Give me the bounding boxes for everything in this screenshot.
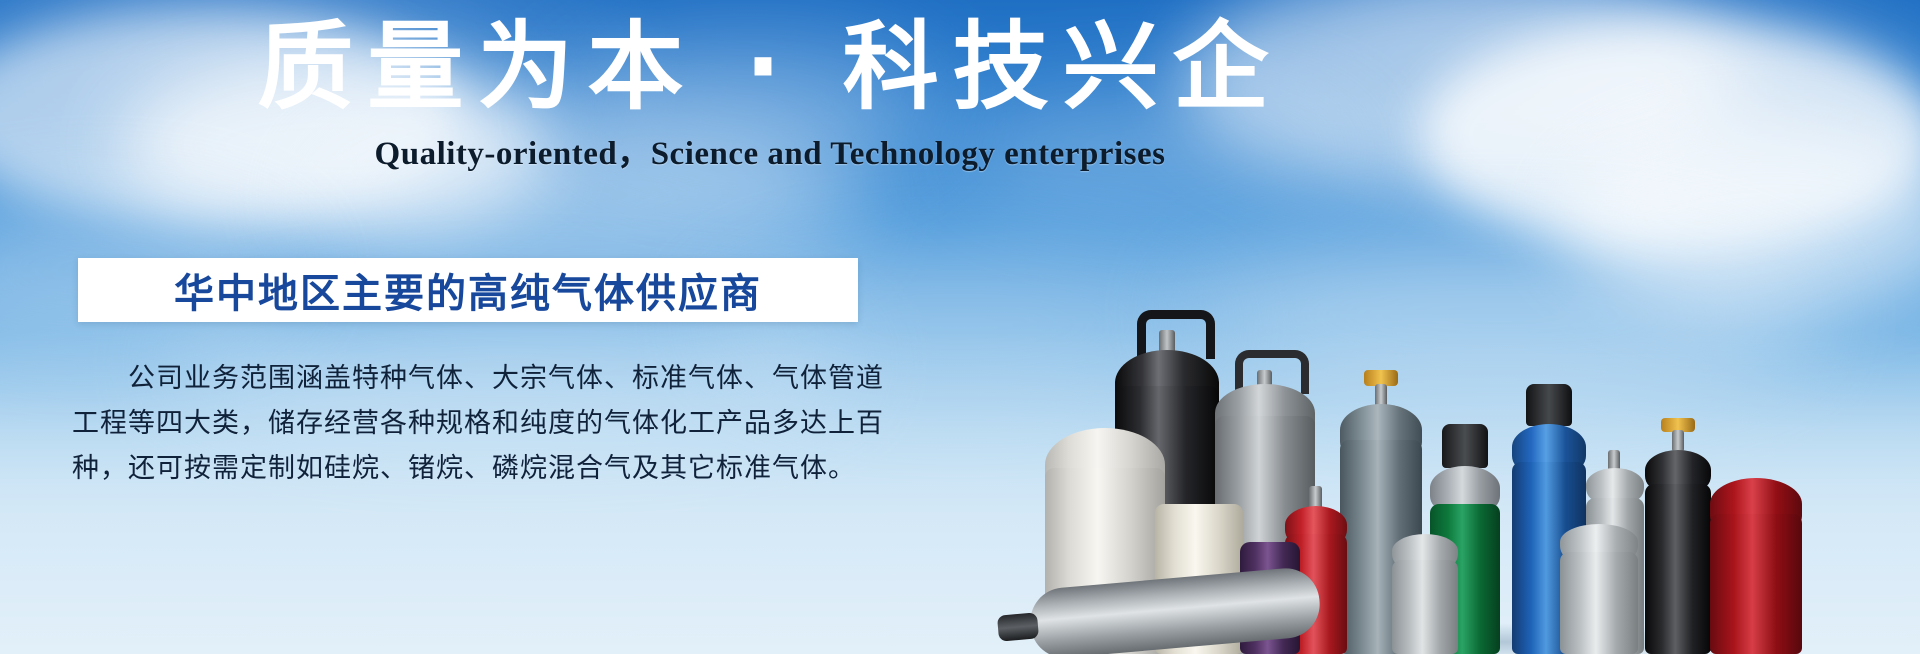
cylinder-body bbox=[1392, 560, 1458, 654]
paragraph-line: 种，还可按需定制如硅烷、锗烷、磷烷混合气及其它标准气体。 bbox=[72, 446, 872, 491]
cylinder-black-right bbox=[1645, 448, 1711, 654]
banner-headline: 质量为本 · 科技兴企 bbox=[0, 14, 1540, 122]
cylinder-lying-valve bbox=[997, 612, 1039, 641]
cylinder-body bbox=[1560, 552, 1638, 654]
hero-banner: 质量为本 · 科技兴企 Quality-oriented，Science and… bbox=[0, 0, 1920, 654]
banner-paragraph: 公司业务范围涵盖特种气体、大宗气体、标准气体、气体管道 工程等四大类，储存经营各… bbox=[72, 356, 872, 491]
cylinder-red-large bbox=[1710, 478, 1802, 654]
highlight-text: 华中地区主要的高纯气体供应商 bbox=[174, 261, 762, 319]
cylinder-body bbox=[1710, 514, 1802, 654]
paragraph-line: 工程等四大类，储存经营各种规格和纯度的气体化工产品多达上百 bbox=[72, 401, 872, 446]
cylinder-body bbox=[1645, 484, 1711, 654]
cylinder-aluminium-back bbox=[1392, 534, 1458, 654]
paragraph-line: 公司业务范围涵盖特种气体、大宗气体、标准气体、气体管道 bbox=[72, 356, 872, 401]
gas-cylinder-group bbox=[1140, 160, 1920, 654]
cylinder-shoulder bbox=[1586, 468, 1644, 502]
headline-block: 质量为本 · 科技兴企 Quality-oriented，Science and… bbox=[0, 14, 1540, 174]
cylinder-valve-stem bbox=[1672, 430, 1684, 452]
cylinder-cap bbox=[1526, 384, 1572, 426]
highlight-box: 华中地区主要的高纯气体供应商 bbox=[78, 258, 858, 322]
cylinder-cap bbox=[1442, 424, 1488, 468]
cylinder-aluminium-front bbox=[1560, 524, 1638, 654]
